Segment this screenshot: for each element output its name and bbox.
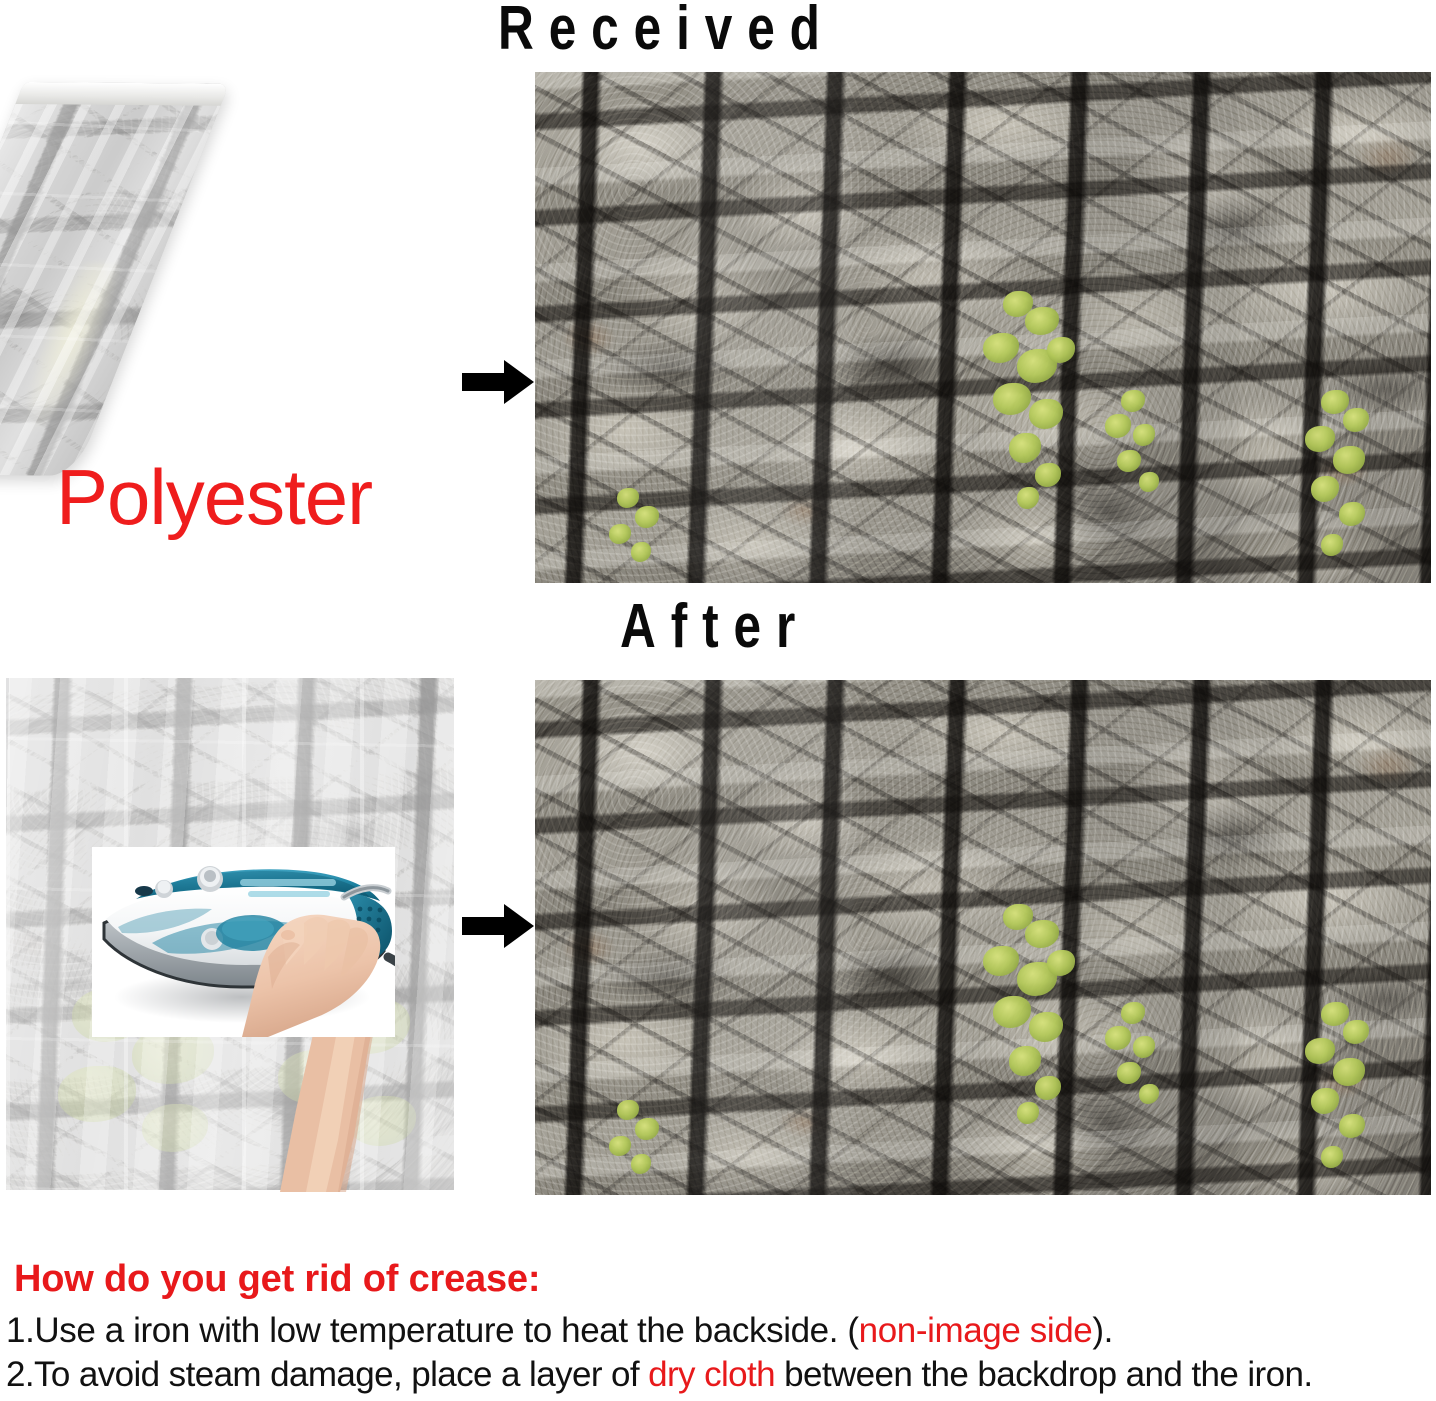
instruction-step-2: 2.To avoid steam damage, place a layer o…: [6, 1355, 1312, 1395]
step1-text-a: 1.Use a iron with low temperature to hea…: [6, 1311, 859, 1350]
step1-text-b: ).: [1092, 1311, 1113, 1350]
after-backdrop-image: [535, 680, 1431, 1195]
steam-iron-icon: [92, 847, 395, 1037]
after-heading: After: [620, 596, 810, 658]
step2-text-a: 2.To avoid steam damage, place a layer o…: [6, 1355, 648, 1394]
arrow-right-icon: [462, 902, 534, 950]
arrow-right-icon: [462, 358, 534, 406]
instructions-title: How do you get rid of crease:: [14, 1258, 540, 1301]
rock-texture: [535, 72, 1431, 583]
folded-fabric-panel: [6, 78, 426, 488]
steam-iron-photo: [92, 847, 395, 1037]
rock-texture: [535, 680, 1431, 1195]
step1-highlight: non-image side: [859, 1311, 1093, 1350]
folded-fabric-image: [0, 82, 229, 476]
step2-text-b: between the backdrop and the iron.: [775, 1355, 1312, 1394]
fabric-fold-edge: [15, 82, 229, 106]
received-backdrop-image: [535, 72, 1431, 583]
step2-highlight: dry cloth: [648, 1355, 775, 1394]
material-label: Polyester: [56, 458, 372, 536]
received-heading: Received: [498, 0, 835, 60]
instruction-step-1: 1.Use a iron with low temperature to hea…: [6, 1311, 1113, 1351]
